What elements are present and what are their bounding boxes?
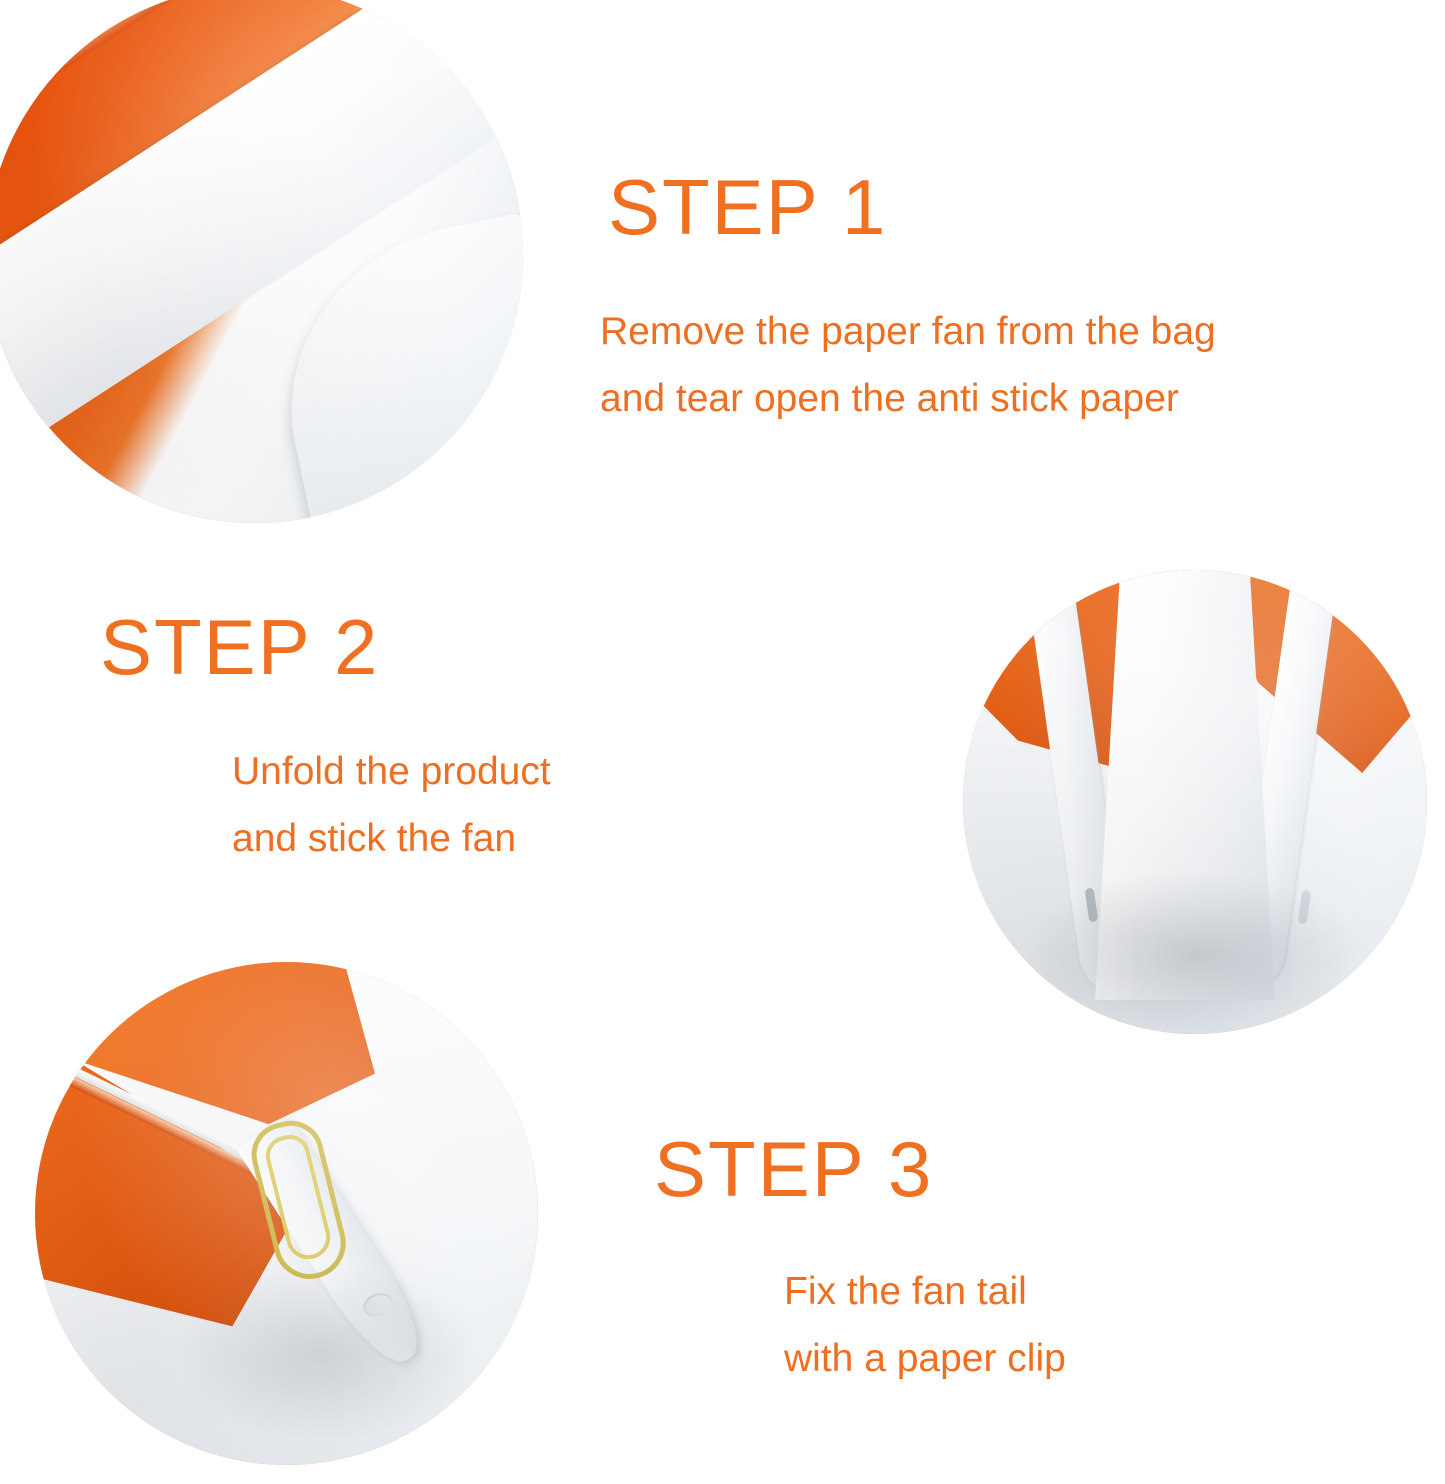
- step-1-text-block: STEP 1 Remove the paper fan from the bag…: [600, 168, 1216, 432]
- step-3-photo: [35, 962, 538, 1465]
- step-2-line-2: and stick the fan: [232, 805, 551, 872]
- step-1-photo: [0, 0, 523, 523]
- step-1-line-1: Remove the paper fan from the bag: [600, 298, 1216, 365]
- instruction-graphic: STEP 1 Remove the paper fan from the bag…: [0, 0, 1445, 1484]
- step-1-body: Remove the paper fan from the bag and te…: [600, 298, 1216, 432]
- step-2-photo: [963, 570, 1427, 1034]
- step-3-line-2: with a paper clip: [784, 1325, 1066, 1392]
- step-1-photo-content: [0, 0, 523, 523]
- step-3-photo-content: [35, 962, 538, 1465]
- step-2-text-block: STEP 2 Unfold the product and stick the …: [96, 608, 551, 872]
- step-2-title: STEP 2: [100, 608, 551, 686]
- step-3-body: Fix the fan tail with a paper clip: [784, 1258, 1066, 1392]
- photo-shadow: [175, 1262, 475, 1442]
- photo-shadow: [1023, 870, 1363, 1034]
- step-1-line-2: and tear open the anti stick paper: [600, 365, 1216, 432]
- step-2-body: Unfold the product and stick the fan: [232, 738, 551, 872]
- step-1-title: STEP 1: [608, 168, 1216, 246]
- step-2-line-1: Unfold the product: [232, 738, 551, 805]
- step-3-text-block: STEP 3 Fix the fan tail with a paper cli…: [648, 1130, 1066, 1392]
- step-3-title: STEP 3: [654, 1130, 1066, 1208]
- step-3-line-1: Fix the fan tail: [784, 1258, 1066, 1325]
- step-2-photo-content: [963, 570, 1427, 1034]
